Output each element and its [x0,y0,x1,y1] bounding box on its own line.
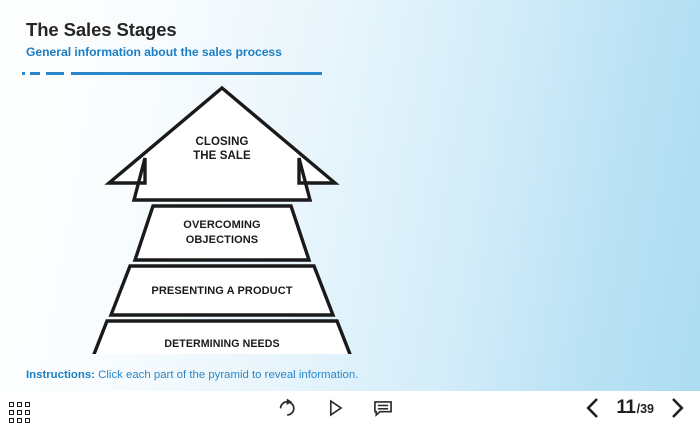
page-title: The Sales Stages [26,20,282,40]
divider-dash-medium [46,72,64,75]
current-page: 11 [616,397,635,419]
total-pages: /39 [637,402,654,416]
pyramid-tier-closing-the-sale[interactable]: CLOSING THE SALE [109,88,335,200]
play-icon[interactable] [324,397,346,419]
notes-icon[interactable] [372,397,394,419]
grid-menu-icon[interactable] [9,402,31,424]
page-indicator: 11 /39 [616,397,654,419]
slide-canvas: The Sales Stages General information abo… [0,0,700,391]
tier-label-line-2: OBJECTIONS [186,234,259,246]
tier-label-line-1: OVERCOMING [183,219,260,231]
pyramid-tier-determining-needs[interactable]: DETERMINING NEEDS [89,321,355,354]
divider-rule-long [71,72,322,75]
instructions-line: Instructions: Click each part of the pyr… [26,369,358,381]
tier-label-line-1: PRESENTING A PRODUCT [151,285,292,297]
dashed-divider [22,72,322,76]
pyramid-tier-presenting-a-product[interactable]: PRESENTING A PRODUCT [111,266,333,315]
slide-header: The Sales Stages General information abo… [26,20,282,59]
pyramid-tier-overcoming-objections[interactable]: OVERCOMING OBJECTIONS [135,206,309,260]
slide-pager: 11 /39 [584,396,686,420]
media-controls [276,397,394,419]
chevron-left-icon[interactable] [584,396,602,420]
chevron-right-icon[interactable] [668,396,686,420]
page-subtitle: General information about the sales proc… [26,45,282,59]
instructions-text: Click each part of the pyramid to reveal… [98,369,358,381]
tier-label-line-1: DETERMINING NEEDS [164,338,279,350]
divider-dot [22,72,25,75]
sales-stages-pyramid: CLOSING THE SALE OVERCOMING OBJECTIONS P… [52,84,392,354]
replay-icon[interactable] [276,397,298,419]
tier-label-line-2: THE SALE [193,150,251,162]
tier-label-line-1: CLOSING [195,136,248,148]
divider-dash-short [30,72,40,75]
instructions-label: Instructions: [26,369,95,381]
